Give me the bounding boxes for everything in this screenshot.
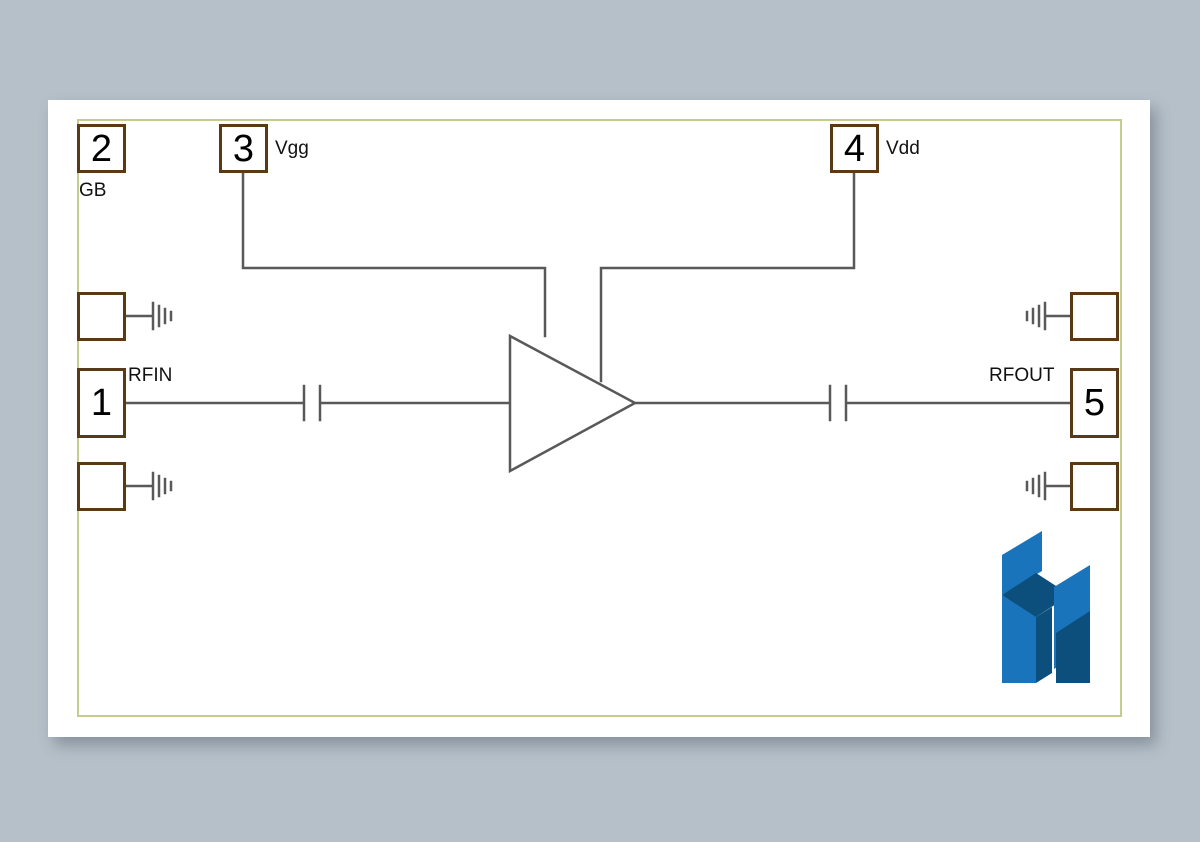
symbol-ground-top-right [1027,303,1045,329]
pin-label-vgg: Vgg [275,138,309,160]
ground-pad-bottom-right[interactable] [1070,462,1119,511]
ground-pad-top-right[interactable] [1070,292,1119,341]
screenshot-root: 2 GB 3 Vgg 4 Vdd 1 RFIN 5 RFOUT [0,0,1200,842]
symbol-ground-bottom-right [1027,473,1045,499]
pin-box-5[interactable]: 5 [1070,368,1119,438]
pin-box-4[interactable]: 4 [830,124,879,173]
pin-number-3: 3 [233,130,254,168]
pin-number-5: 5 [1084,384,1105,422]
schematic-paper: 2 GB 3 Vgg 4 Vdd 1 RFIN 5 RFOUT [48,100,1150,737]
macom-logo [998,527,1094,687]
pin-label-rfout: RFOUT [989,365,1054,387]
logo-shape-inner-center [1036,607,1052,683]
wire-net-vdd [601,173,854,381]
pin-number-2: 2 [91,130,112,168]
pin-box-1[interactable]: 1 [77,368,126,438]
ground-pad-top-left[interactable] [77,292,126,341]
symbol-amplifier-triangle [510,336,635,471]
pin-box-2[interactable]: 2 [77,124,126,173]
pin-label-gb: GB [79,180,106,202]
pin-number-4: 4 [844,130,865,168]
pin-label-vdd: Vdd [886,138,920,160]
ground-pad-bottom-left[interactable] [77,462,126,511]
symbol-ground-top-left [153,303,171,329]
schematic-wires-layer [48,100,1150,737]
pin-label-rfin: RFIN [128,365,172,387]
pin-box-3[interactable]: 3 [219,124,268,173]
symbol-ground-bottom-left [153,473,171,499]
pin-number-1: 1 [91,384,112,422]
wire-net-vgg [243,173,545,336]
